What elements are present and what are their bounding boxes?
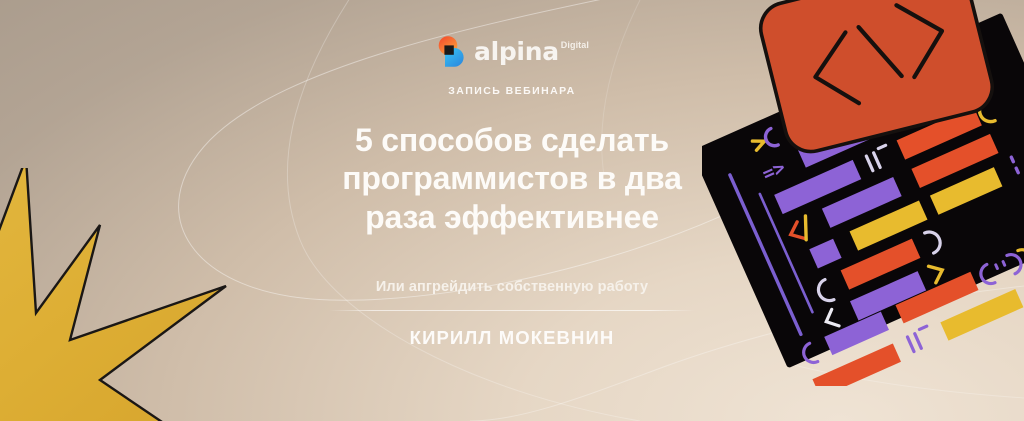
speaker-name: КИРИЛЛ МОКЕВНИН xyxy=(410,327,615,349)
title-line-3: раза эффективнее xyxy=(342,198,681,236)
brand-name: alpina xyxy=(474,39,559,64)
divider xyxy=(329,310,695,311)
brand-suffix: Digital xyxy=(561,40,589,50)
title-line-1: 5 способов сделать xyxy=(342,121,681,159)
subtitle: Или апгрейдить собственную работу xyxy=(376,279,648,295)
brand-logo[interactable]: alpina Digital xyxy=(435,34,589,68)
webinar-cover: => xyxy=(0,0,1024,421)
eyebrow-label: ЗАПИСЬ ВЕБИНАРА xyxy=(448,85,575,97)
title-line-2: программистов в два xyxy=(342,159,681,197)
page-title: 5 способов сделать программистов в два р… xyxy=(342,121,681,236)
alpina-logo-mark-icon xyxy=(435,35,467,67)
brand-wordmark: alpina Digital xyxy=(474,39,589,64)
center-column: alpina Digital ЗАПИСЬ ВЕБИНАРА 5 способо… xyxy=(0,0,1024,349)
